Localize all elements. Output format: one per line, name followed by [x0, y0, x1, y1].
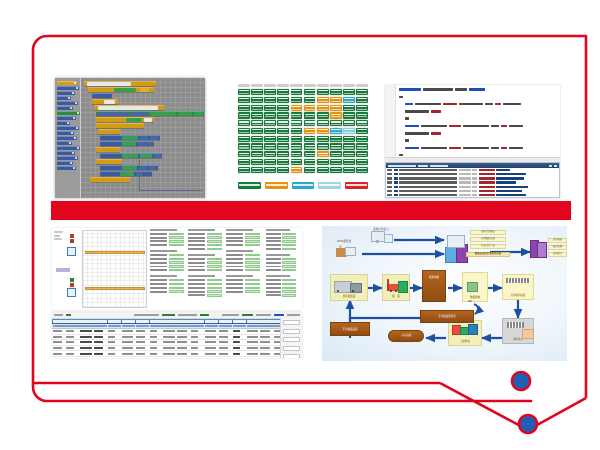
slot-cell-r7-c9[interactable]	[356, 143, 368, 149]
gantt-card-row	[266, 283, 296, 285]
gantt-card-value	[169, 233, 184, 235]
block-foreach[interactable]	[96, 123, 144, 128]
gantt-card-label	[266, 233, 281, 235]
slot-grid-cells[interactable]	[238, 89, 368, 173]
slot-cell-r5-c1[interactable]	[251, 128, 263, 134]
grid-header-cell-15[interactable]	[260, 320, 273, 322]
grid-filter-cell-1[interactable]	[66, 325, 79, 327]
grid-header-cell-12[interactable]	[219, 320, 232, 322]
log-row-5[interactable]	[387, 189, 558, 192]
unloading-label: 卸 货	[383, 296, 409, 299]
output-log-window[interactable]	[385, 162, 560, 198]
table-cell	[191, 336, 198, 338]
block-end[interactable]	[90, 177, 130, 182]
grid-header-cell-2[interactable]	[80, 320, 93, 322]
slot-cell-r7-c2[interactable]	[264, 143, 276, 149]
slot-cell-r8-c2[interactable]	[264, 151, 276, 157]
slot-cell-r9-c7[interactable]	[330, 159, 342, 165]
slot-cell-r1-c7[interactable]	[330, 97, 342, 103]
slot-cell-r9-c6[interactable]	[317, 159, 329, 165]
reject-return-node[interactable]: 不合格品退货	[330, 322, 370, 336]
log-token	[399, 190, 457, 192]
gantt-card-label	[188, 283, 205, 285]
log-token	[399, 194, 457, 196]
slot-cell-r10-c3[interactable]	[277, 167, 289, 173]
code-lines[interactable]	[397, 88, 558, 161]
grid-filter-cell-4[interactable]	[108, 325, 121, 327]
grid-side-buttons[interactable]	[280, 318, 302, 358]
gantt-card[interactable]	[226, 275, 260, 292]
slot-cell-r6-c2[interactable]	[264, 136, 276, 142]
gantt-marker-green[interactable]	[70, 278, 74, 282]
code-line-7[interactable]	[397, 139, 558, 142]
slot-cell-r4-c6[interactable]	[317, 120, 329, 126]
slot-cell-r7-c0[interactable]	[238, 143, 250, 149]
code-line-1[interactable]	[397, 95, 558, 98]
log-row-list[interactable]	[386, 168, 559, 198]
grid-filter-cell-3[interactable]	[94, 325, 107, 327]
block-compare-1[interactable]	[100, 135, 160, 140]
chip-statistics: 业务统计	[548, 252, 567, 257]
gantt-card-label	[150, 240, 167, 242]
chip-task-dispatch: 作业任务下达	[470, 244, 506, 249]
receiving-doc-node[interactable]: 收货单据	[422, 270, 446, 302]
slot-cell-r6-c9[interactable]	[356, 136, 368, 142]
slot-cell-r2-c0[interactable]	[238, 105, 250, 111]
gantt-card-row	[226, 233, 260, 235]
slot-cell-r8-c3[interactable]	[277, 151, 289, 157]
gantt-card[interactable]	[188, 254, 222, 271]
slot-cell-r9-c2[interactable]	[264, 159, 276, 165]
gantt-card[interactable]	[150, 229, 184, 246]
palette-block-10[interactable]	[57, 131, 74, 135]
slot-cell-r2-c3[interactable]	[277, 105, 289, 111]
slot-cell-r5-c9[interactable]	[356, 128, 368, 134]
gantt-card-row	[150, 233, 184, 235]
slot-cell-r8-c7[interactable]	[330, 151, 342, 157]
grid-filter-cell-10[interactable]	[191, 325, 204, 327]
slot-cell-r3-c0[interactable]	[238, 112, 250, 118]
gantt-card-title	[188, 275, 215, 277]
palette-block-13[interactable]	[57, 146, 80, 150]
slot-cell-r10-c5[interactable]	[304, 167, 316, 173]
slot-cell-r0-c7[interactable]	[330, 89, 342, 95]
slot-cell-r10-c6[interactable]	[317, 167, 329, 173]
slot-cell-r9-c5[interactable]	[304, 159, 316, 165]
slot-cell-r6-c1[interactable]	[251, 136, 263, 142]
gantt-card-column-1[interactable]	[188, 229, 222, 301]
gantt-card-title	[150, 275, 177, 277]
slot-cell-r10-c2[interactable]	[264, 167, 276, 173]
slot-cell-r1-c6[interactable]	[317, 97, 329, 103]
slot-cell-r2-c5[interactable]	[304, 105, 316, 111]
slot-cell-r1-c3[interactable]	[277, 97, 289, 103]
code-line-0[interactable]	[397, 88, 558, 91]
gantt-card-label	[150, 279, 167, 281]
gantt-card[interactable]	[226, 250, 260, 271]
gantt-card-value	[207, 236, 222, 238]
slot-cell-r2-c2[interactable]	[264, 105, 276, 111]
palette-block-0[interactable]	[57, 81, 77, 85]
code-line-6[interactable]	[397, 132, 558, 135]
palette-block-6[interactable]	[57, 111, 80, 115]
gantt-card-column-3[interactable]	[266, 229, 296, 301]
slot-cell-r7-c3[interactable]	[277, 143, 289, 149]
slot-cell-r4-c7[interactable]	[330, 120, 342, 126]
log-token	[472, 181, 477, 183]
gantt-card-value	[207, 240, 222, 242]
slot-cell-r0-c9[interactable]	[356, 89, 368, 95]
slot-cell-r9-c4[interactable]	[291, 159, 303, 165]
slot-cell-r0-c1[interactable]	[251, 89, 263, 95]
gantt-card-row	[266, 287, 296, 289]
code-line-4[interactable]	[397, 117, 558, 120]
slot-cell-r10-c8[interactable]	[343, 167, 355, 173]
gantt-card-label	[150, 233, 167, 235]
grid-header-cell-10[interactable]	[191, 320, 204, 322]
grid-header-cell-5[interactable]	[122, 320, 135, 322]
slot-cell-r10-c0[interactable]	[238, 167, 250, 173]
slot-cell-r0-c8[interactable]	[343, 89, 355, 95]
palette-block-7[interactable]	[57, 116, 76, 120]
slot-cell-r9-c9[interactable]	[356, 159, 368, 165]
palette-block-2[interactable]	[57, 91, 75, 95]
grid-filter-cell-5[interactable]	[122, 325, 135, 327]
log-token	[399, 169, 457, 171]
block-compare-2[interactable]	[100, 141, 154, 146]
gantt-card[interactable]	[188, 229, 222, 250]
inbound-complete-node[interactable]: 入库完成	[388, 330, 424, 342]
code-line-8[interactable]	[397, 146, 558, 149]
slot-cell-r2-c7[interactable]	[330, 105, 342, 111]
gantt-card-row	[266, 248, 296, 250]
gantt-card-label	[226, 279, 243, 281]
gantt-card[interactable]	[266, 254, 296, 271]
slot-cell-r3-c8[interactable]	[343, 112, 355, 118]
grid-filter-cell-15[interactable]	[260, 325, 273, 327]
gantt-card-label	[188, 244, 205, 246]
log-row-3[interactable]	[387, 181, 558, 184]
table-cell	[66, 353, 73, 355]
palette-block-15[interactable]	[57, 156, 78, 160]
grid-header-cell-3[interactable]	[94, 320, 107, 322]
code-line-2[interactable]	[397, 103, 558, 106]
grid-header-cell-11[interactable]	[205, 320, 218, 322]
slot-cell-r9-c1[interactable]	[251, 159, 263, 165]
barcode-print-node[interactable]: 打印条码标签	[502, 274, 534, 300]
grid-filter-cell-11[interactable]	[205, 325, 218, 327]
slot-cell-r3-c2[interactable]	[264, 112, 276, 118]
grid-filter-cell-13[interactable]	[233, 325, 246, 327]
slot-cell-r6-c3[interactable]	[277, 136, 289, 142]
slot-cell-r10-c4[interactable]	[291, 167, 303, 173]
gantt-card-value	[207, 233, 222, 235]
slot-cell-r4-c3[interactable]	[277, 120, 289, 126]
gantt-card-label	[188, 248, 205, 250]
inventory-data-grid[interactable]	[52, 312, 302, 358]
gantt-card-label	[226, 258, 243, 260]
log-row-2[interactable]	[387, 177, 558, 180]
table-cell	[219, 341, 228, 343]
gantt-card-value	[169, 265, 184, 267]
palette-block-17[interactable]	[57, 166, 76, 170]
gantt-detail-cards[interactable]	[150, 229, 302, 310]
gantt-card[interactable]	[150, 250, 184, 271]
table-row[interactable]	[52, 357, 302, 358]
slot-cell-r7-c4[interactable]	[291, 143, 303, 149]
gantt-resource-column[interactable]	[52, 228, 82, 310]
grid-header-cell-6[interactable]	[136, 320, 149, 322]
slot-cell-r4-c8[interactable]	[343, 120, 355, 126]
slot-col-header-0	[238, 84, 250, 87]
block-join-text[interactable]	[96, 111, 204, 116]
grid-filter-cell-8[interactable]	[163, 325, 176, 327]
slot-cell-r6-c6[interactable]	[317, 136, 329, 142]
slot-cell-r5-c5[interactable]	[304, 128, 316, 134]
grid-header-cell-4[interactable]	[108, 320, 121, 322]
slot-cell-r5-c6[interactable]	[317, 128, 329, 134]
grid-rows[interactable]	[52, 329, 302, 358]
slot-cell-r9-c8[interactable]	[343, 159, 355, 165]
palette-block-4[interactable]	[57, 101, 78, 105]
palette-block-8[interactable]	[57, 121, 70, 125]
grid-filter-cell-2[interactable]	[80, 325, 93, 327]
grid-filter-cell-0[interactable]	[53, 325, 66, 327]
block-do[interactable]	[98, 129, 120, 134]
table-cell	[233, 336, 240, 338]
gantt-card[interactable]	[188, 275, 222, 296]
slot-cell-r8-c4[interactable]	[291, 151, 303, 157]
slot-cell-r8-c9[interactable]	[356, 151, 368, 157]
table-cell	[108, 336, 115, 338]
slot-cell-r7-c7[interactable]	[330, 143, 342, 149]
grid-filter-cell-7[interactable]	[150, 325, 163, 327]
slot-cell-r2-c1[interactable]	[251, 105, 263, 111]
slot-cell-r6-c5[interactable]	[304, 136, 316, 142]
slot-cell-r2-c9[interactable]	[356, 105, 368, 111]
slot-cell-r5-c0[interactable]	[238, 128, 250, 134]
slot-cell-r7-c6[interactable]	[317, 143, 329, 149]
slot-cell-r4-c9[interactable]	[356, 120, 368, 126]
unloading-node[interactable]: 卸 货	[382, 274, 410, 301]
slot-cell-r7-c5[interactable]	[304, 143, 316, 149]
gantt-card-title	[266, 254, 290, 256]
table-cell	[163, 330, 174, 332]
grid-filter-cell-12[interactable]	[219, 325, 232, 327]
gantt-card-column-0[interactable]	[150, 229, 184, 297]
slot-cell-r1-c5[interactable]	[304, 97, 316, 103]
grid-filter-cell-6[interactable]	[136, 325, 149, 327]
slot-cell-r3-c5[interactable]	[304, 112, 316, 118]
code-token	[449, 125, 461, 128]
slot-cell-r6-c0[interactable]	[238, 136, 250, 142]
palette-block-12[interactable]	[57, 141, 72, 145]
gantt-card-row	[226, 254, 260, 256]
table-cell	[150, 347, 157, 349]
code-token	[405, 132, 429, 135]
blocks-palette[interactable]	[55, 78, 81, 198]
gantt-card-value	[282, 287, 296, 289]
slot-cell-r9-c0[interactable]	[238, 159, 250, 165]
log-row-6[interactable]	[387, 194, 558, 197]
slot-cell-r1-c2[interactable]	[264, 97, 276, 103]
slot-cell-r8-c8[interactable]	[343, 151, 355, 157]
gantt-card[interactable]	[226, 229, 260, 246]
gantt-card[interactable]	[266, 275, 296, 296]
slot-cell-r9-c3[interactable]	[277, 159, 289, 165]
palette-block-9[interactable]	[57, 126, 79, 130]
slot-cell-r2-c8[interactable]	[343, 105, 355, 111]
slot-cell-r6-c8[interactable]	[343, 136, 355, 142]
slot-cell-r1-c8[interactable]	[343, 97, 355, 103]
slot-cell-r4-c1[interactable]	[251, 120, 263, 126]
supplier-delivery-node[interactable]: 供应商送货	[330, 274, 368, 301]
slot-cell-r5-c8[interactable]	[343, 128, 355, 134]
grid-header-cell-0[interactable]	[53, 320, 66, 322]
log-row-4[interactable]	[387, 185, 558, 188]
slot-cell-r3-c9[interactable]	[356, 112, 368, 118]
log-token	[399, 186, 457, 188]
slot-cell-r1-c4[interactable]	[291, 97, 303, 103]
block-set-property[interactable]	[88, 87, 154, 92]
log-token	[479, 177, 495, 179]
block-event-when[interactable]	[84, 81, 156, 86]
block-then[interactable]	[96, 159, 122, 164]
blocks-programming-editor[interactable]	[55, 78, 205, 198]
gantt-marker-brown[interactable]	[70, 239, 74, 243]
slot-cell-r3-c3[interactable]	[277, 112, 289, 118]
code-line-3[interactable]	[397, 110, 558, 113]
slot-cell-r4-c5[interactable]	[304, 120, 316, 126]
gantt-card-label	[150, 258, 167, 260]
slot-cell-r5-c3[interactable]	[277, 128, 289, 134]
putaway-node[interactable]: 上架作业	[448, 320, 482, 346]
slot-cell-r8-c5[interactable]	[304, 151, 316, 157]
grid-header-cell-9[interactable]	[177, 320, 190, 322]
palette-block-11[interactable]	[57, 136, 77, 140]
gantt-card-label	[226, 283, 243, 285]
grid-header-cell-1[interactable]	[66, 320, 79, 322]
slot-cell-r7-c1[interactable]	[251, 143, 263, 149]
code-token	[463, 125, 489, 128]
source-code-editor[interactable]	[385, 85, 560, 198]
quantity-check-node[interactable]: 数量验收	[462, 272, 488, 302]
slot-cell-r3-c4[interactable]	[291, 112, 303, 118]
reject-area-node[interactable]: 不合格品暂存区	[420, 310, 474, 323]
slot-cell-r6-c4[interactable]	[291, 136, 303, 142]
block-set-variable[interactable]	[96, 117, 154, 122]
slot-cell-r8-c0[interactable]	[238, 151, 250, 157]
gantt-bar-1[interactable]	[85, 251, 145, 254]
slot-cell-r5-c4[interactable]	[291, 128, 303, 134]
grid-filter-cell-14[interactable]	[247, 325, 260, 327]
grid-header-cell-8[interactable]	[163, 320, 176, 322]
slot-cell-r10-c9[interactable]	[356, 167, 368, 173]
slot-cell-r8-c1[interactable]	[251, 151, 263, 157]
schedule-gantt-board[interactable]	[52, 228, 302, 310]
slot-cell-r5-c2[interactable]	[264, 128, 276, 134]
warehouse-process-flowchart[interactable]: 采购订单录入 WMS服务器 采购计划确认 订单跟踪查询 作业任务下达 数据自动同…	[322, 226, 567, 361]
slot-cell-r4-c0[interactable]	[238, 120, 250, 126]
gantt-bar-2[interactable]	[85, 287, 145, 290]
gantt-marker-red[interactable]	[70, 234, 74, 238]
palette-block-5[interactable]	[57, 106, 73, 110]
slot-cell-r1-c9[interactable]	[356, 97, 368, 103]
log-row-1[interactable]	[387, 173, 558, 176]
palette-block-3[interactable]	[57, 96, 71, 100]
reject-return-label: 不合格品退货	[331, 329, 369, 332]
gantt-marker-red-2[interactable]	[70, 283, 74, 287]
slot-cell-r4-c4[interactable]	[291, 120, 303, 126]
log-row-0[interactable]	[387, 169, 558, 172]
gantt-card-label	[226, 291, 243, 293]
slot-cell-r2-c6[interactable]	[317, 105, 329, 111]
slot-cell-r4-c2[interactable]	[264, 120, 276, 126]
log-token	[387, 169, 392, 171]
gantt-node-end[interactable]	[67, 288, 76, 297]
code-gutter	[385, 85, 396, 157]
grid-header-cell-13[interactable]	[233, 320, 246, 322]
slot-cell-r10-c1[interactable]	[251, 167, 263, 173]
grid-header-cell-7[interactable]	[150, 320, 163, 322]
block-else[interactable]	[96, 147, 120, 152]
slot-cell-r0-c2[interactable]	[264, 89, 276, 95]
slot-cell-r3-c1[interactable]	[251, 112, 263, 118]
gantt-card-label	[188, 269, 205, 271]
grid-header-cell-14[interactable]	[247, 320, 260, 322]
palette-block-1[interactable]	[57, 86, 79, 90]
slot-cell-r3-c6[interactable]	[317, 112, 329, 118]
log-token	[394, 173, 398, 175]
slot-cell-r3-c7[interactable]	[330, 112, 342, 118]
slot-cell-r0-c4[interactable]	[291, 89, 303, 95]
slot-cell-r8-c6[interactable]	[317, 151, 329, 157]
gantt-card-row	[226, 279, 260, 281]
gantt-card[interactable]	[150, 275, 184, 292]
grid-filter-cell-9[interactable]	[177, 325, 190, 327]
log-token	[479, 173, 495, 175]
slot-cell-r1-c0[interactable]	[238, 97, 250, 103]
gantt-card-value	[169, 254, 184, 256]
slot-cell-r0-c0[interactable]	[238, 89, 250, 95]
code-line-5[interactable]	[397, 124, 558, 127]
palette-block-16[interactable]	[57, 161, 73, 165]
gantt-card-column-2[interactable]	[226, 229, 260, 297]
block-logic-1[interactable]	[92, 93, 112, 98]
gantt-node-start[interactable]	[67, 247, 76, 256]
block-call-procedure[interactable]	[94, 105, 164, 110]
block-control-if[interactable]	[92, 99, 118, 104]
barcode-scan-node[interactable]: 条码录入	[502, 318, 534, 344]
grid-toolbar[interactable]	[52, 312, 302, 319]
slot-cell-r1-c1[interactable]	[251, 97, 263, 103]
slot-cell-r0-c5[interactable]	[304, 89, 316, 95]
slot-cell-r0-c3[interactable]	[277, 89, 289, 95]
accent-dot-upper	[512, 372, 530, 390]
gantt-card[interactable]	[266, 229, 296, 250]
slot-cell-r6-c7[interactable]	[330, 136, 342, 142]
gantt-timeline-grid[interactable]	[82, 230, 147, 308]
palette-block-14[interactable]	[57, 151, 75, 155]
slot-col-header-8	[343, 84, 355, 87]
storage-slot-grid[interactable]	[238, 84, 368, 179]
slot-cell-r10-c7[interactable]	[330, 167, 342, 173]
slot-cell-r2-c4[interactable]	[291, 105, 303, 111]
slot-cell-r0-c6[interactable]	[317, 89, 329, 95]
slot-cell-r7-c8[interactable]	[343, 143, 355, 149]
block-compare-3[interactable]	[100, 153, 162, 158]
slot-cell-r5-c7[interactable]	[330, 128, 342, 134]
